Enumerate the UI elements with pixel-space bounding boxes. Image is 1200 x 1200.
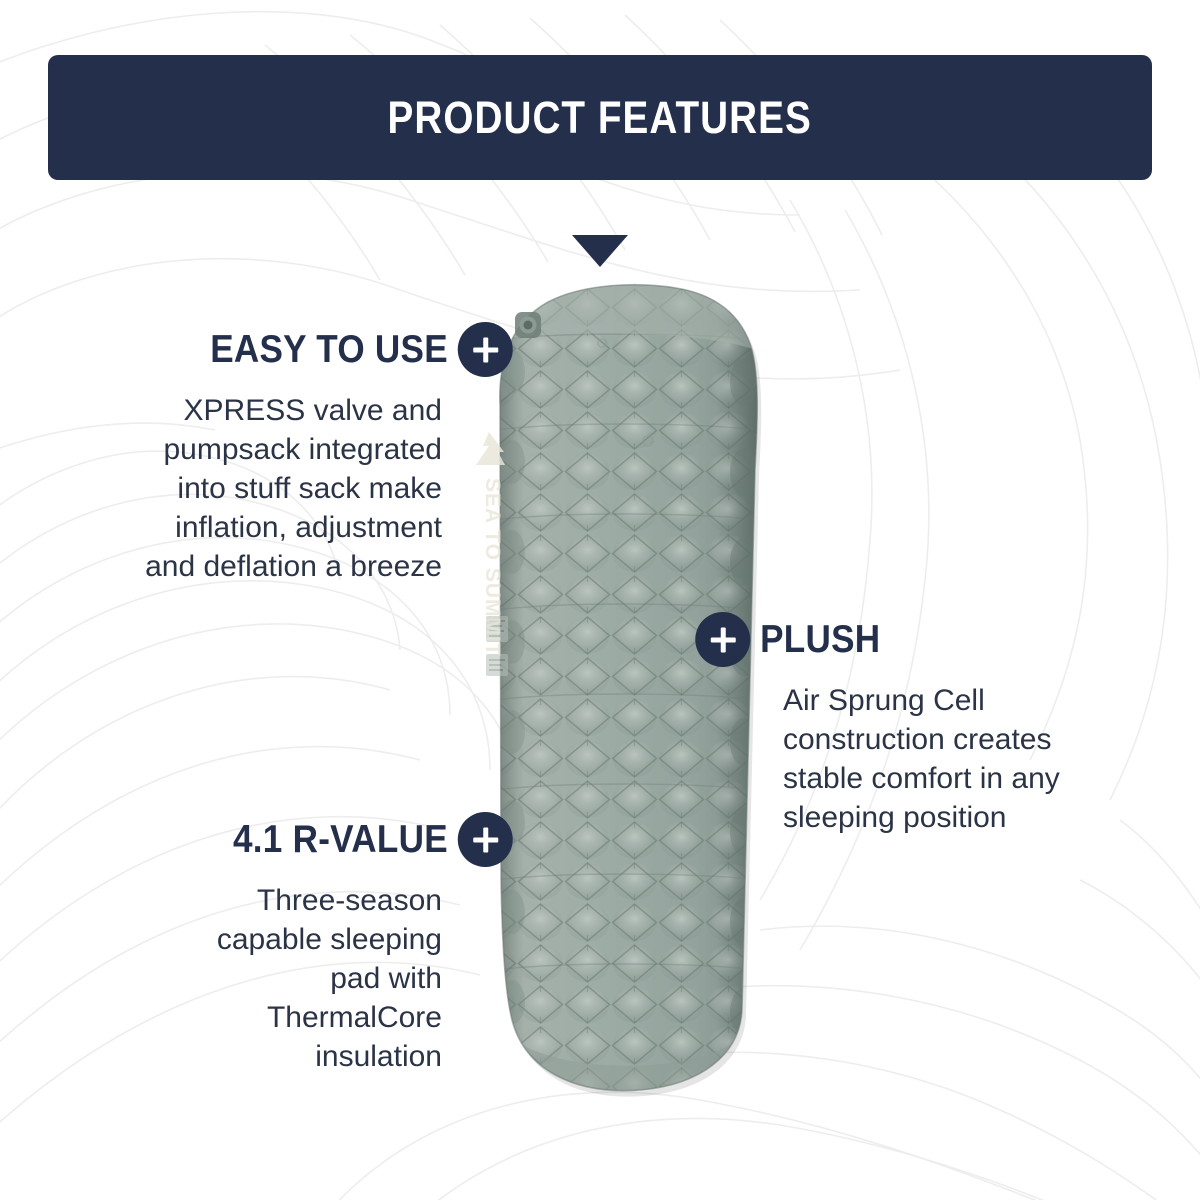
- feature-heading-row: 4.1 R-VALUE: [141, 812, 510, 867]
- feature-block-r-value: 4.1 R-VALUE Three-season capable sleepin…: [100, 812, 510, 1076]
- plus-icon[interactable]: [458, 812, 513, 867]
- feature-block-easy-to-use: EASY TO USE XPRESS valve and pumpsack in…: [70, 322, 510, 586]
- page-title: PRODUCT FEATURES: [388, 92, 812, 144]
- feature-heading-row: EASY TO USE: [114, 322, 510, 377]
- feature-body-easy-to-use: XPRESS valve and pumpsack integrated int…: [70, 391, 510, 586]
- feature-heading-easy-to-use: EASY TO USE: [210, 330, 448, 369]
- header-pointer: [572, 235, 628, 267]
- feature-heading-row: PLUSH: [698, 612, 1103, 667]
- feature-body-r-value: Three-season capable sleeping pad with T…: [100, 881, 510, 1076]
- feature-body-plush: Air Sprung Cell construction creates sta…: [698, 681, 1148, 837]
- plus-icon[interactable]: [458, 322, 513, 377]
- header-banner: PRODUCT FEATURES: [48, 55, 1152, 180]
- xpress-valve-icon: [515, 312, 541, 338]
- feature-block-plush: PLUSH Air Sprung Cell construction creat…: [698, 612, 1148, 837]
- header-bar: PRODUCT FEATURES: [48, 55, 1152, 180]
- plus-icon[interactable]: [695, 612, 750, 667]
- feature-heading-plush: PLUSH: [760, 620, 880, 659]
- infographic-canvas: SEA TO SUMMIT PRODUCT FEATURES EASY TO U…: [0, 0, 1200, 1200]
- feature-heading-r-value: 4.1 R-VALUE: [233, 820, 448, 859]
